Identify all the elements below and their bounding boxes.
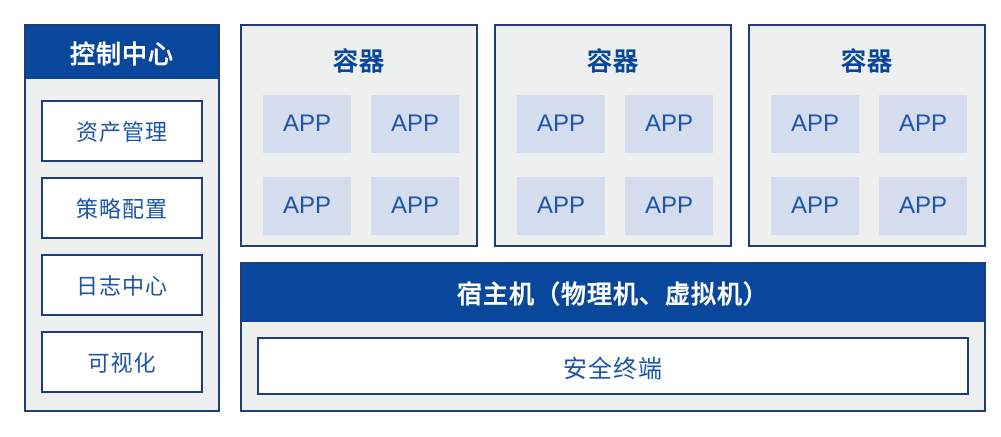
host-machine-box: 宿主机（物理机、虚拟机） 安全终端 bbox=[240, 262, 986, 412]
app-box[interactable]: APP bbox=[771, 177, 859, 235]
app-box[interactable]: APP bbox=[879, 177, 967, 235]
app-label: APP bbox=[645, 110, 693, 138]
architecture-diagram: 控制中心 资产管理 策略配置 日志中心 可视化 容器 APP APP bbox=[0, 0, 1001, 437]
container-title: 容器 bbox=[496, 42, 730, 78]
control-item-label: 资产管理 bbox=[76, 115, 168, 147]
control-item-visualization[interactable]: 可视化 bbox=[41, 331, 203, 393]
control-item-label: 策略配置 bbox=[76, 192, 168, 224]
container-title: 容器 bbox=[242, 42, 476, 78]
app-box[interactable]: APP bbox=[771, 95, 859, 153]
app-label: APP bbox=[899, 192, 947, 220]
app-label: APP bbox=[791, 192, 839, 220]
app-box[interactable]: APP bbox=[625, 95, 713, 153]
app-box[interactable]: APP bbox=[263, 177, 351, 235]
control-center-panel: 控制中心 资产管理 策略配置 日志中心 可视化 bbox=[24, 24, 220, 412]
app-label: APP bbox=[537, 110, 585, 138]
container-title: 容器 bbox=[750, 42, 984, 78]
app-box[interactable]: APP bbox=[371, 177, 459, 235]
security-endpoint-label: 安全终端 bbox=[563, 349, 663, 384]
app-grid: APP APP APP APP bbox=[771, 95, 967, 235]
control-center-item-list: 资产管理 策略配置 日志中心 可视化 bbox=[26, 79, 218, 410]
control-item-asset-management[interactable]: 资产管理 bbox=[41, 100, 203, 162]
app-label: APP bbox=[283, 192, 331, 220]
app-box[interactable]: APP bbox=[517, 95, 605, 153]
control-center-title: 控制中心 bbox=[26, 26, 218, 79]
app-label: APP bbox=[391, 110, 439, 138]
host-machine-body: 安全终端 bbox=[242, 322, 984, 410]
control-item-label: 日志中心 bbox=[76, 269, 168, 301]
host-machine-title: 宿主机（物理机、虚拟机） bbox=[242, 264, 984, 322]
app-label: APP bbox=[537, 192, 585, 220]
app-label: APP bbox=[791, 110, 839, 138]
app-box[interactable]: APP bbox=[625, 177, 713, 235]
app-box[interactable]: APP bbox=[263, 95, 351, 153]
app-label: APP bbox=[391, 192, 439, 220]
app-box[interactable]: APP bbox=[371, 95, 459, 153]
security-endpoint-box[interactable]: 安全终端 bbox=[257, 337, 969, 395]
app-box[interactable]: APP bbox=[879, 95, 967, 153]
container-box: 容器 APP APP APP APP bbox=[494, 24, 732, 247]
app-box[interactable]: APP bbox=[517, 177, 605, 235]
control-item-policy-config[interactable]: 策略配置 bbox=[41, 177, 203, 239]
app-grid: APP APP APP APP bbox=[517, 95, 713, 235]
app-label: APP bbox=[645, 192, 693, 220]
control-item-label: 可视化 bbox=[87, 346, 156, 378]
control-item-log-center[interactable]: 日志中心 bbox=[41, 254, 203, 316]
app-grid: APP APP APP APP bbox=[263, 95, 459, 235]
container-box: 容器 APP APP APP APP bbox=[240, 24, 478, 247]
container-box: 容器 APP APP APP APP bbox=[748, 24, 986, 247]
app-label: APP bbox=[283, 110, 331, 138]
app-label: APP bbox=[899, 110, 947, 138]
